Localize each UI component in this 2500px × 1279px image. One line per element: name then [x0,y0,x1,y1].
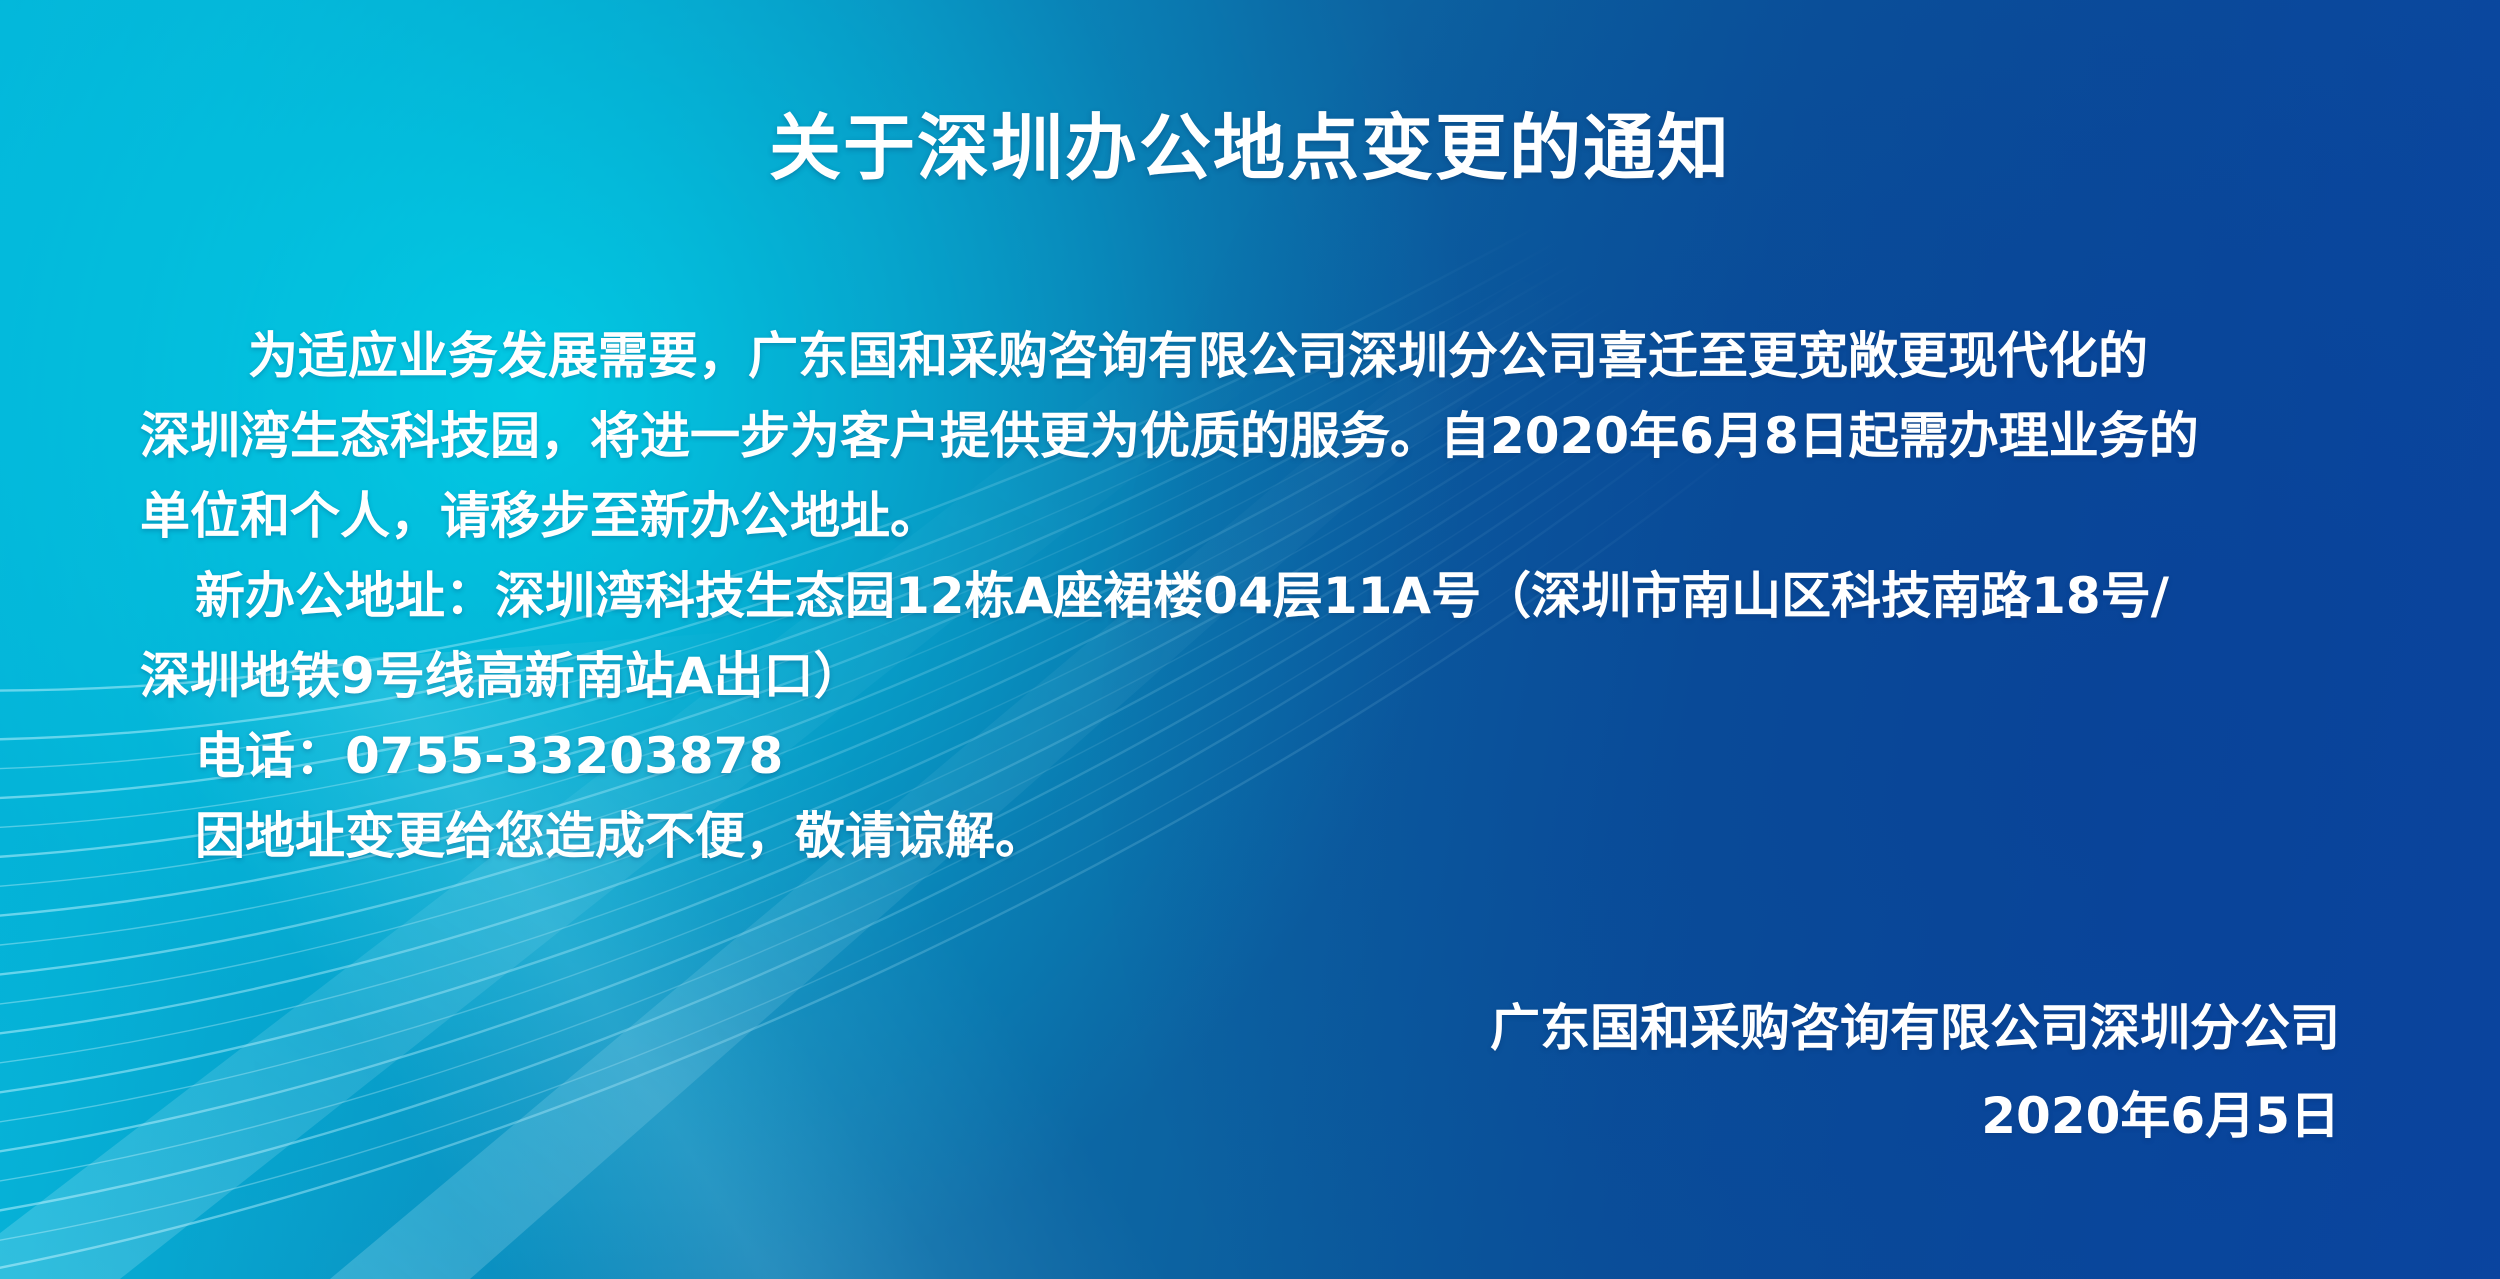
signature-company: 广东国和采购咨询有限公司深圳分公司 [1490,984,2340,1072]
body-line-6-phone: 电话：0755-33203878 [140,716,2370,796]
page-title: 关于深圳办公地点变更的通知 [0,112,2500,184]
signature-date: 2020年6月5日 [1490,1072,2340,1160]
notice-banner: 关于深圳办公地点变更的通知 为适应业务发展需要，广东国和采购咨询有限公司深圳分公… [0,0,2500,1279]
notice-body: 为适应业务发展需要，广东国和采购咨询有限公司深圳分公司喜迁至更宽敞更现代化的 深… [140,316,2370,876]
body-line-1: 为适应业务发展需要，广东国和采购咨询有限公司深圳分公司喜迁至更宽敞更现代化的 [140,316,2370,396]
notice-content: 关于深圳办公地点变更的通知 为适应业务发展需要，广东国和采购咨询有限公司深圳分公… [0,0,2500,1279]
body-line-7-apology: 因地址变更给您造成不便，敬请谅解。 [140,796,2370,876]
body-line-4-new-address: 新办公地址：深圳湾科技生态园12栋A座裙楼04层11A号（深圳市南山区科技南路1… [140,556,2370,636]
body-line-3: 单位和个人，请移步至新办公地址。 [140,476,2370,556]
body-line-5-address-continued: 深圳地铁9号线高新南站A出口） [140,636,2370,716]
body-line-2: 深圳湾生态科技园，将进一步为客户提供更为优质的服务。自2020年6月8日起需办理… [140,396,2370,476]
signature-block: 广东国和采购咨询有限公司深圳分公司 2020年6月5日 [1490,984,2340,1160]
